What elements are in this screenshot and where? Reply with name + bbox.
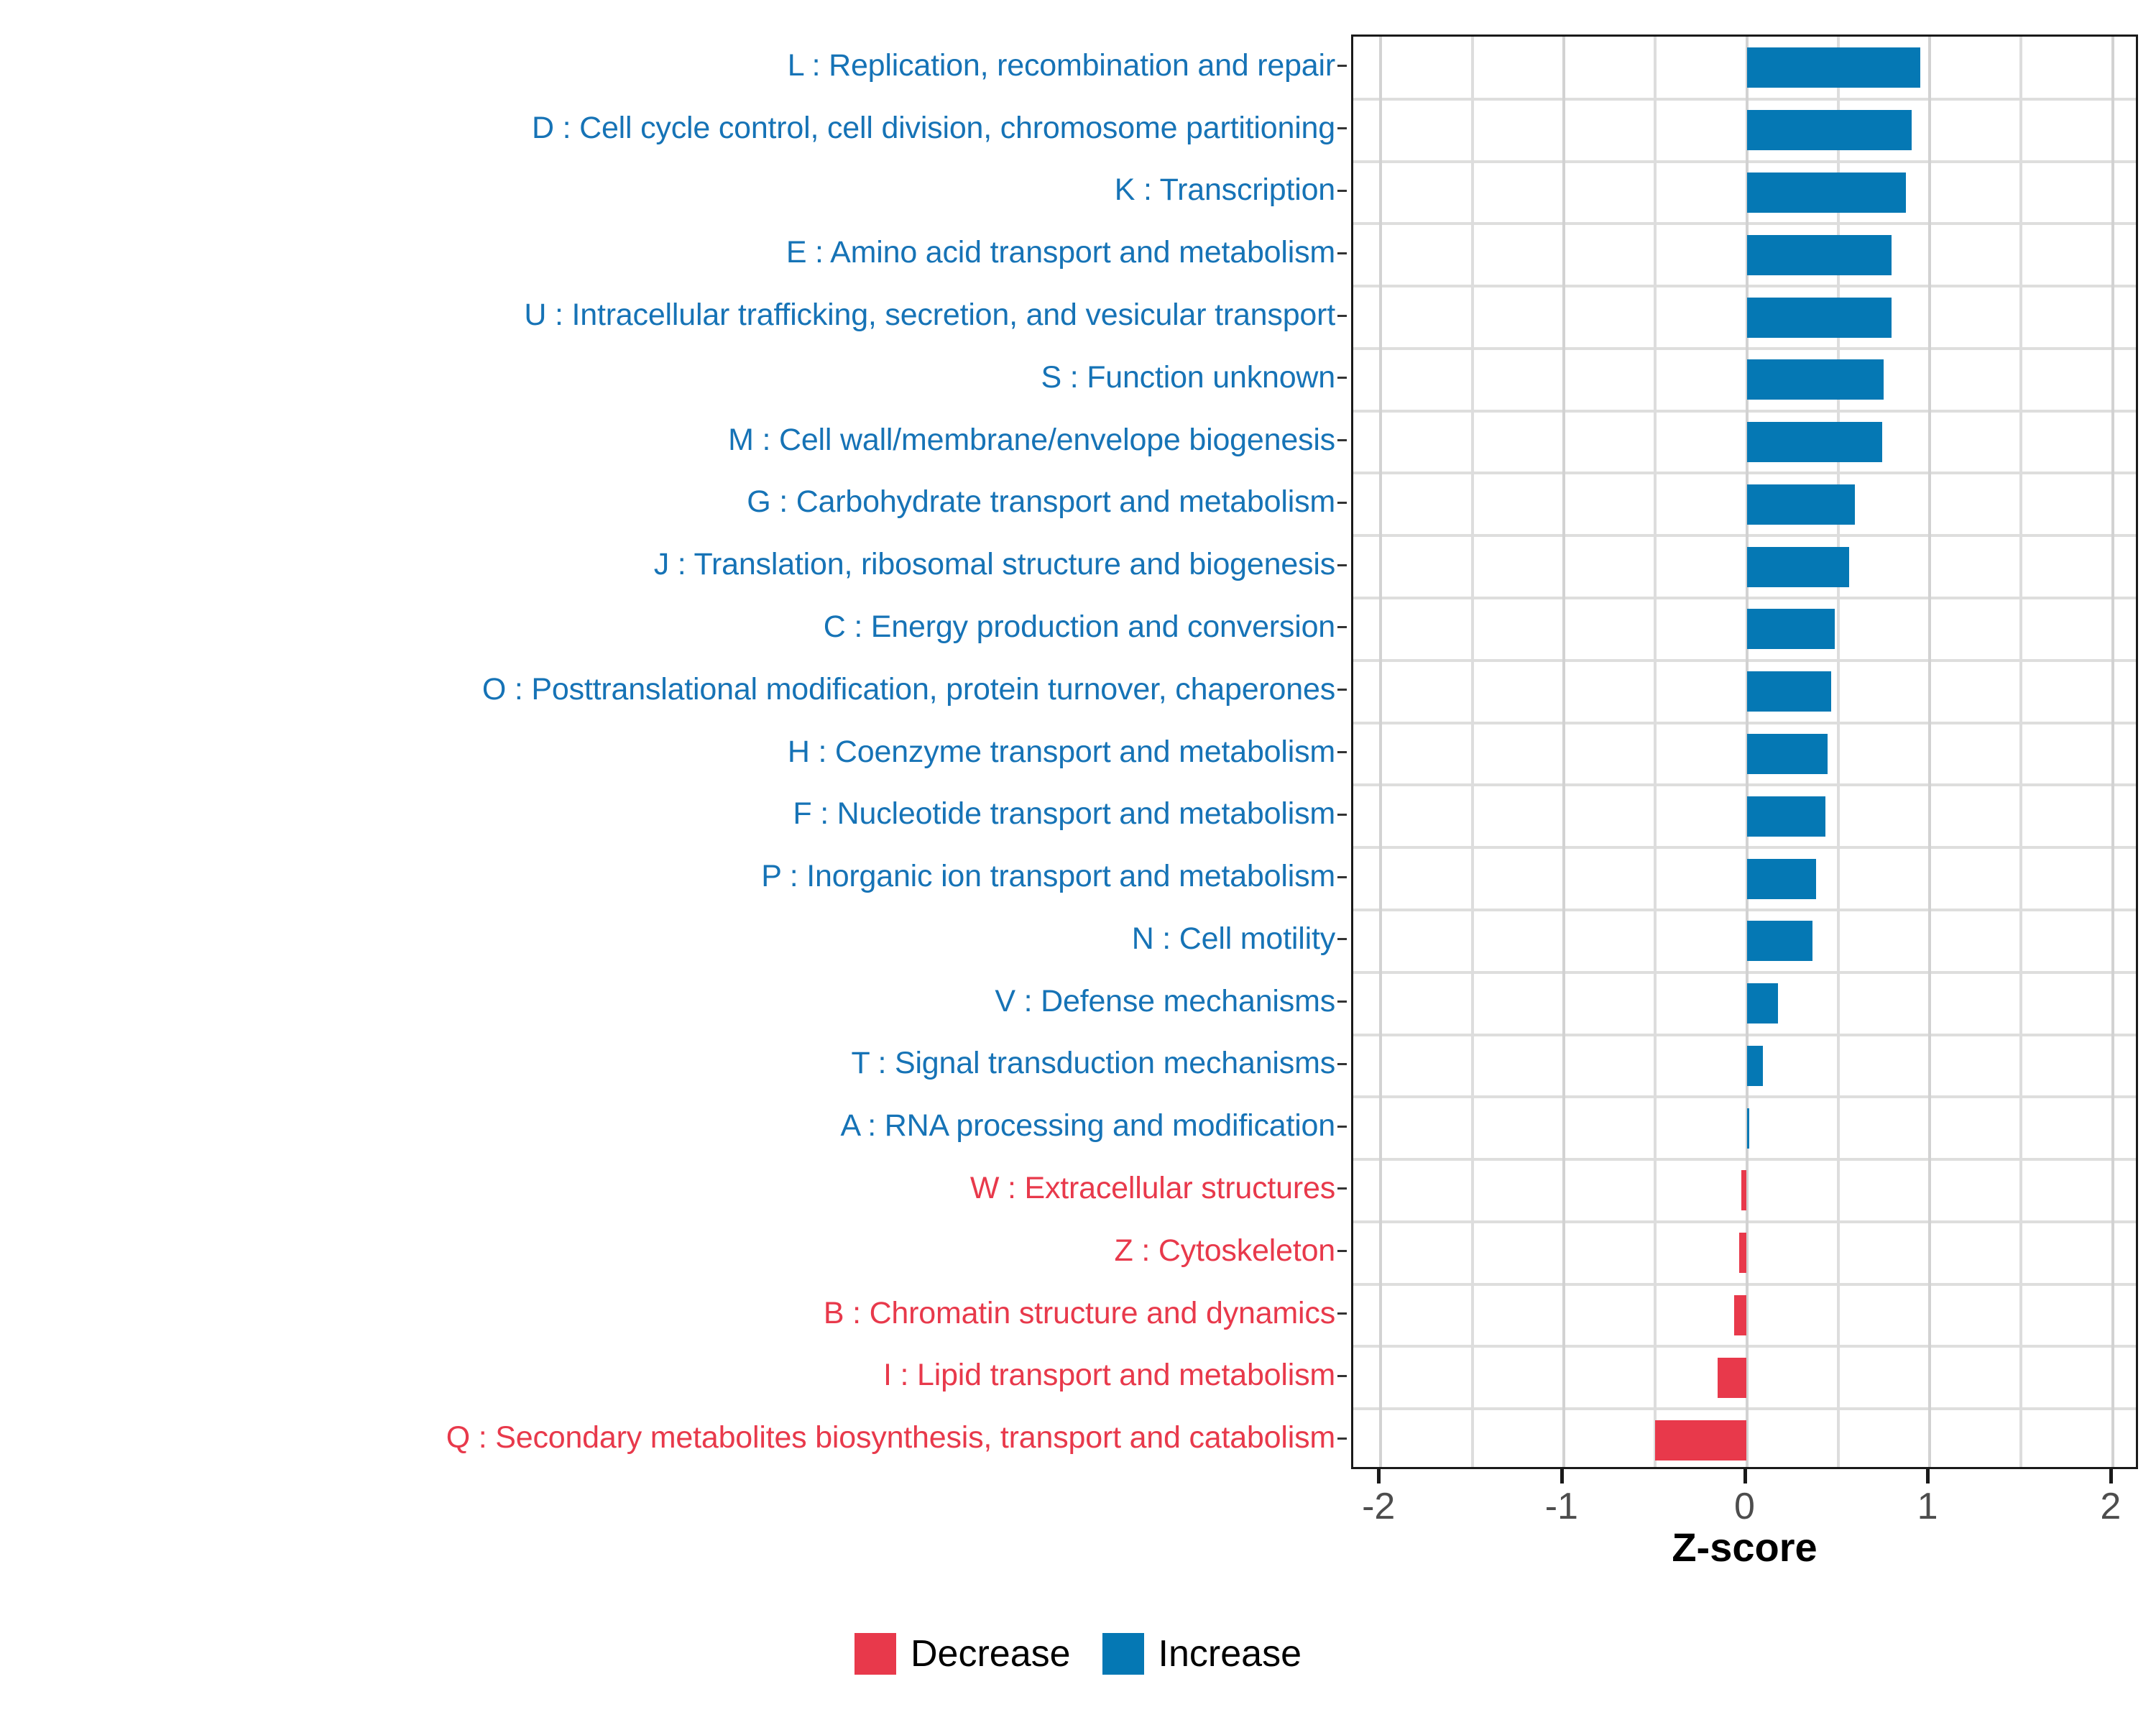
- y-axis-tickmark: [1337, 1187, 1347, 1190]
- x-axis-title: Z-score: [1351, 1524, 2138, 1570]
- x-axis-tickmark: [2109, 1469, 2113, 1483]
- bar: [1747, 734, 1828, 774]
- bar: [1747, 298, 1892, 338]
- bar: [1747, 422, 1882, 462]
- y-axis-tickmark: [1337, 876, 1347, 878]
- y-axis-tickmark: [1337, 1312, 1347, 1315]
- bar: [1747, 110, 1912, 150]
- x-axis-tick-label: 0: [1734, 1485, 1755, 1528]
- vertical-gridline-minor: [1654, 37, 1657, 1467]
- y-axis-label: H : Coenzyme transport and metabolism: [788, 737, 1335, 768]
- vertical-gridline-major: [2111, 37, 2114, 1467]
- y-axis-tickmark: [1337, 1126, 1347, 1128]
- x-axis-tick-label: -1: [1545, 1485, 1578, 1528]
- y-axis-tickmark: [1337, 1063, 1347, 1065]
- vertical-gridline-minor: [1471, 37, 1474, 1467]
- bar: [1739, 1233, 1746, 1273]
- bar: [1747, 859, 1817, 899]
- y-axis-tickmark: [1337, 1437, 1347, 1440]
- plot-panel: [1351, 34, 2138, 1469]
- bar: [1734, 1295, 1747, 1335]
- y-axis-label: G : Carbohydrate transport and metabolis…: [747, 487, 1335, 517]
- y-axis-tickmark: [1337, 1250, 1347, 1252]
- vertical-gridline-major: [1562, 37, 1565, 1467]
- bar: [1747, 609, 1835, 649]
- y-axis-label: M : Cell wall/membrane/envelope biogenes…: [728, 425, 1335, 456]
- bar: [1741, 1170, 1747, 1210]
- y-axis-label: I : Lipid transport and metabolism: [883, 1360, 1335, 1391]
- y-axis-label: W : Extracellular structures: [970, 1173, 1335, 1204]
- y-axis-label: E : Amino acid transport and metabolism: [786, 237, 1335, 268]
- bar: [1747, 671, 1831, 712]
- x-axis-tick-label: -2: [1362, 1485, 1395, 1528]
- y-axis-label: K : Transcription: [1115, 175, 1335, 206]
- legend: DecreaseIncrease: [0, 1633, 2156, 1675]
- legend-label: Increase: [1158, 1633, 1302, 1675]
- bar: [1747, 484, 1855, 525]
- bar: [1747, 796, 1826, 837]
- y-axis-label: V : Defense mechanisms: [995, 986, 1335, 1017]
- vertical-gridline-minor: [2019, 37, 2022, 1467]
- y-axis-tickmark: [1337, 751, 1347, 753]
- chart-root: L : Replication, recombination and repai…: [0, 0, 2156, 1725]
- x-axis: -2-1012: [1351, 1469, 2138, 1527]
- y-axis-label: U : Intracellular trafficking, secretion…: [524, 300, 1335, 331]
- y-axis-label: A : RNA processing and modification: [840, 1110, 1335, 1141]
- y-axis-label: Z : Cytoskeleton: [1115, 1236, 1335, 1266]
- y-axis-label: Q : Secondary metabolites biosynthesis, …: [446, 1422, 1335, 1453]
- vertical-gridline-major: [1379, 37, 1382, 1467]
- x-axis-tick-label: 2: [2100, 1485, 2121, 1528]
- bar: [1747, 547, 1850, 587]
- bar: [1747, 1108, 1749, 1149]
- y-axis-tickmark: [1337, 315, 1347, 317]
- y-axis-tickmark: [1337, 127, 1347, 129]
- y-axis-label: C : Energy production and conversion: [824, 612, 1335, 643]
- y-axis-label: S : Function unknown: [1041, 362, 1335, 393]
- y-axis-tickmark: [1337, 439, 1347, 441]
- y-axis-label: F : Nucleotide transport and metabolism: [793, 799, 1335, 829]
- legend-swatch-increase: [1102, 1633, 1144, 1675]
- x-axis-tickmark: [1743, 1469, 1747, 1483]
- x-axis-tick-label: 1: [1917, 1485, 1938, 1528]
- vertical-gridline-major: [1928, 37, 1931, 1467]
- bar: [1747, 983, 1778, 1023]
- legend-swatch-decrease: [854, 1633, 896, 1675]
- y-axis-label: T : Signal transduction mechanisms: [851, 1048, 1335, 1079]
- y-axis-label: J : Translation, ribosomal structure and…: [654, 549, 1335, 580]
- y-axis-tickmark: [1337, 938, 1347, 940]
- y-axis-category-labels: L : Replication, recombination and repai…: [0, 34, 1351, 1465]
- y-axis-label: P : Inorganic ion transport and metaboli…: [761, 861, 1335, 892]
- bar: [1747, 235, 1892, 275]
- x-axis-tickmark: [1926, 1469, 1930, 1483]
- x-axis-tickmark: [1377, 1469, 1381, 1483]
- y-axis-label: O : Posttranslational modification, prot…: [482, 674, 1335, 705]
- y-axis-label: D : Cell cycle control, cell division, c…: [532, 113, 1335, 144]
- y-axis-tickmark: [1337, 377, 1347, 379]
- y-axis-tickmark: [1337, 65, 1347, 67]
- bar: [1747, 172, 1907, 213]
- bar: [1747, 921, 1813, 961]
- y-axis-tickmark: [1337, 626, 1347, 628]
- bar: [1747, 1046, 1764, 1086]
- legend-label: Decrease: [911, 1633, 1071, 1675]
- y-axis-label: L : Replication, recombination and repai…: [788, 50, 1335, 81]
- y-axis-label: B : Chromatin structure and dynamics: [824, 1298, 1335, 1329]
- bar: [1718, 1358, 1747, 1398]
- y-axis-label: N : Cell motility: [1132, 924, 1335, 954]
- bar: [1747, 359, 1884, 400]
- legend-item[interactable]: Increase: [1102, 1633, 1302, 1675]
- y-axis-tickmark: [1337, 564, 1347, 566]
- y-axis-tickmark: [1337, 814, 1347, 816]
- bar: [1747, 47, 1921, 88]
- y-axis-tickmark: [1337, 1000, 1347, 1003]
- y-axis-tickmark: [1337, 252, 1347, 254]
- y-axis-tickmark: [1337, 190, 1347, 192]
- legend-item[interactable]: Decrease: [854, 1633, 1071, 1675]
- bar: [1655, 1420, 1746, 1460]
- y-axis-tickmark: [1337, 502, 1347, 504]
- y-axis-tickmark: [1337, 689, 1347, 691]
- y-axis-tickmark: [1337, 1375, 1347, 1377]
- x-axis-tickmark: [1560, 1469, 1564, 1483]
